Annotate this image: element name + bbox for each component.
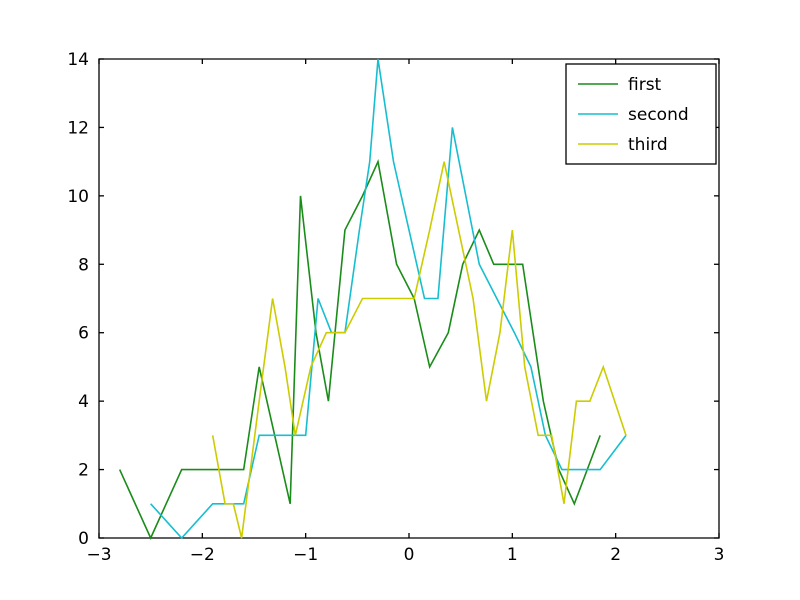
y-tick-label: 8 xyxy=(78,255,89,275)
series-line-first xyxy=(120,162,601,538)
chart-legend: firstsecondthird xyxy=(566,64,716,164)
data-series-group xyxy=(120,59,626,538)
legend-label-third: third xyxy=(628,135,668,155)
x-tick-label: 2 xyxy=(610,545,621,565)
y-tick-label: 4 xyxy=(78,392,89,412)
legend-label-first: first xyxy=(628,75,662,95)
x-tick-label: 3 xyxy=(714,545,725,565)
figure-canvas: −3−2−10123 02468101214 firstsecondthird xyxy=(0,0,800,600)
x-tick-label: 1 xyxy=(507,545,518,565)
x-tick-label: −3 xyxy=(86,545,111,565)
y-tick-label: 2 xyxy=(78,461,89,481)
x-tick-label: −2 xyxy=(190,545,215,565)
y-tick-label: 12 xyxy=(67,118,89,138)
x-tick-label: 0 xyxy=(404,545,415,565)
y-tick-label: 14 xyxy=(67,50,89,70)
x-tick-label: −1 xyxy=(293,545,318,565)
y-tick-label: 0 xyxy=(78,529,89,549)
legend-label-second: second xyxy=(628,105,689,125)
y-tick-label: 10 xyxy=(67,187,89,207)
line-chart: −3−2−10123 02468101214 firstsecondthird xyxy=(0,0,800,600)
y-tick-label: 6 xyxy=(78,324,89,344)
